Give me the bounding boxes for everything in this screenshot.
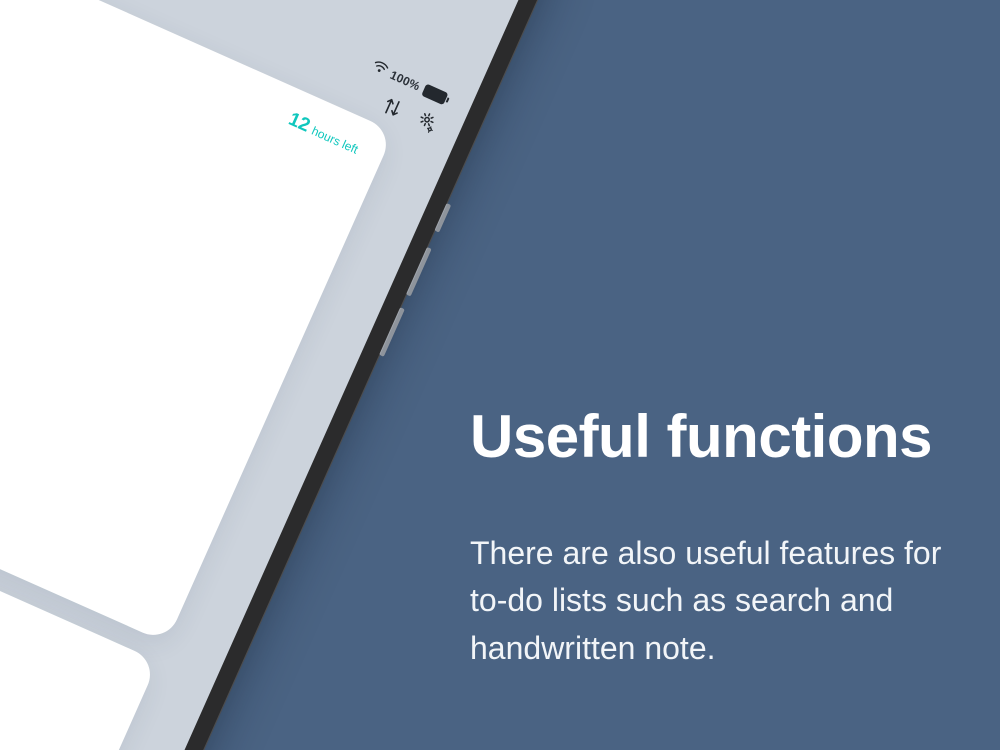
- power-button[interactable]: [434, 203, 451, 232]
- time-remaining-value: 12: [285, 109, 313, 137]
- sort-arrows-icon[interactable]: [379, 95, 404, 124]
- task-card[interactable]: Jun 7 flow chart. 12 hours left: [0, 0, 394, 643]
- tablet-screen: Tasks in Progress 4 items TOMORROW 100%: [0, 0, 546, 750]
- slide-canvas: Tasks in Progress 4 items TOMORROW 100%: [0, 0, 1000, 750]
- battery-full-icon: [421, 83, 448, 105]
- battery-percent-label: 100%: [388, 68, 422, 94]
- copy-heading: Useful functions: [470, 405, 970, 468]
- status-bar: 100%: [369, 58, 450, 107]
- marketing-copy: Useful functions There are also useful f…: [470, 405, 970, 672]
- copy-body: There are also useful features for to-do…: [470, 530, 960, 672]
- volume-up-button[interactable]: [406, 247, 432, 297]
- volume-down-button[interactable]: [379, 307, 405, 357]
- time-remaining-unit: hours left: [309, 124, 360, 157]
- gear-icon[interactable]: [413, 109, 441, 140]
- wifi-icon: [369, 58, 390, 81]
- handwritten-sketch: Start Data yes Create initial Data: [0, 0, 100, 404]
- time-remaining-badge: 12 hours left: [285, 109, 362, 160]
